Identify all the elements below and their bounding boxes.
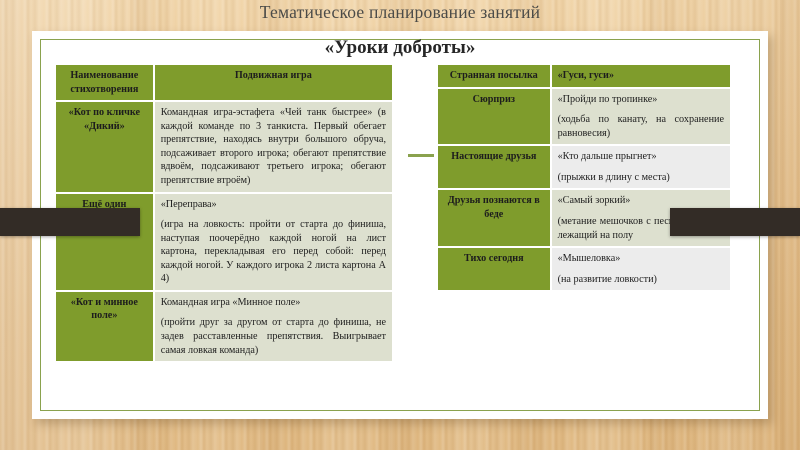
table-right-body: Странная посылка«Гуси, гуси»Сюрприз«Прой… [438,65,730,290]
game-description-line: (на развитие ловкости) [558,273,724,287]
column-header-2: Подвижная игра [155,65,392,100]
game-description-cell: «Переправа»(игра на ловкость: пройти от … [155,194,392,290]
game-description-line: «Самый зоркий» [558,194,724,208]
table-connector-line [408,154,434,157]
table-row: «Кот и минное поле»Командная игра «Минно… [56,292,392,361]
game-description-line: «Переправа» [161,198,386,212]
table-row: Сюрприз«Пройди по тропинке»(ходьба по ка… [438,89,730,145]
game-description-line: (пройти друг за другом от старта до фини… [161,316,386,357]
game-description-cell: «Пройди по тропинке»(ходьба по канату, н… [552,89,730,145]
game-description-line: Командная игра «Минное поле» [161,296,386,310]
poem-name-cell: Друзья познаются в беде [438,190,550,246]
game-description-line: (игра на ловкость: пройти от старта до ф… [161,218,386,286]
poem-name-cell: Сюрприз [438,89,550,145]
game-description-cell: «Гуси, гуси» [552,65,730,87]
game-description-line: «Пройди по тропинке» [558,93,724,107]
page-subtitle: «Уроки доброты» [32,37,768,59]
column-header-1: Наименование стихотворения [56,65,153,100]
table-row: «Кот по кличке «Дикий»Командная игра-эст… [56,102,392,191]
page-headline: Тематическое планирование занятий [0,2,800,23]
game-description-line: (прыжки в длину с места) [558,171,724,185]
poem-name-cell: Странная посылка [438,65,550,87]
poem-name-cell: «Кот по кличке «Дикий» [56,102,153,191]
decor-tab-left [0,208,140,236]
poem-name-cell: Тихо сегодня [438,248,550,290]
poem-game-table-right: Странная посылка«Гуси, гуси»Сюрприз«Прой… [436,63,732,292]
table-row: Странная посылка«Гуси, гуси» [438,65,730,87]
poem-name-cell: «Кот и минное поле» [56,292,153,361]
game-description-line: «Кто дальше прыгнет» [558,150,724,164]
game-description-line: Командная игра-эстафета «Чей танк быстре… [161,106,386,187]
game-description-line: «Мышеловка» [558,252,724,266]
decor-tab-right [670,208,800,236]
game-description-cell: Командная игра «Минное поле»(пройти друг… [155,292,392,361]
table-row: Настоящие друзья«Кто дальше прыгнет»(пры… [438,146,730,188]
table-row: Тихо сегодня«Мышеловка»(на развитие ловк… [438,248,730,290]
game-description-cell: «Кто дальше прыгнет»(прыжки в длину с ме… [552,146,730,188]
game-description-cell: «Мышеловка»(на развитие ловкости) [552,248,730,290]
game-description-line: (ходьба по канату, на сохранение равнове… [558,113,724,140]
game-description-line: «Гуси, гуси» [558,69,724,83]
poem-name-cell: Настоящие друзья [438,146,550,188]
game-description-cell: Командная игра-эстафета «Чей танк быстре… [155,102,392,191]
table-header-row: Наименование стихотворенияПодвижная игра [56,65,392,100]
